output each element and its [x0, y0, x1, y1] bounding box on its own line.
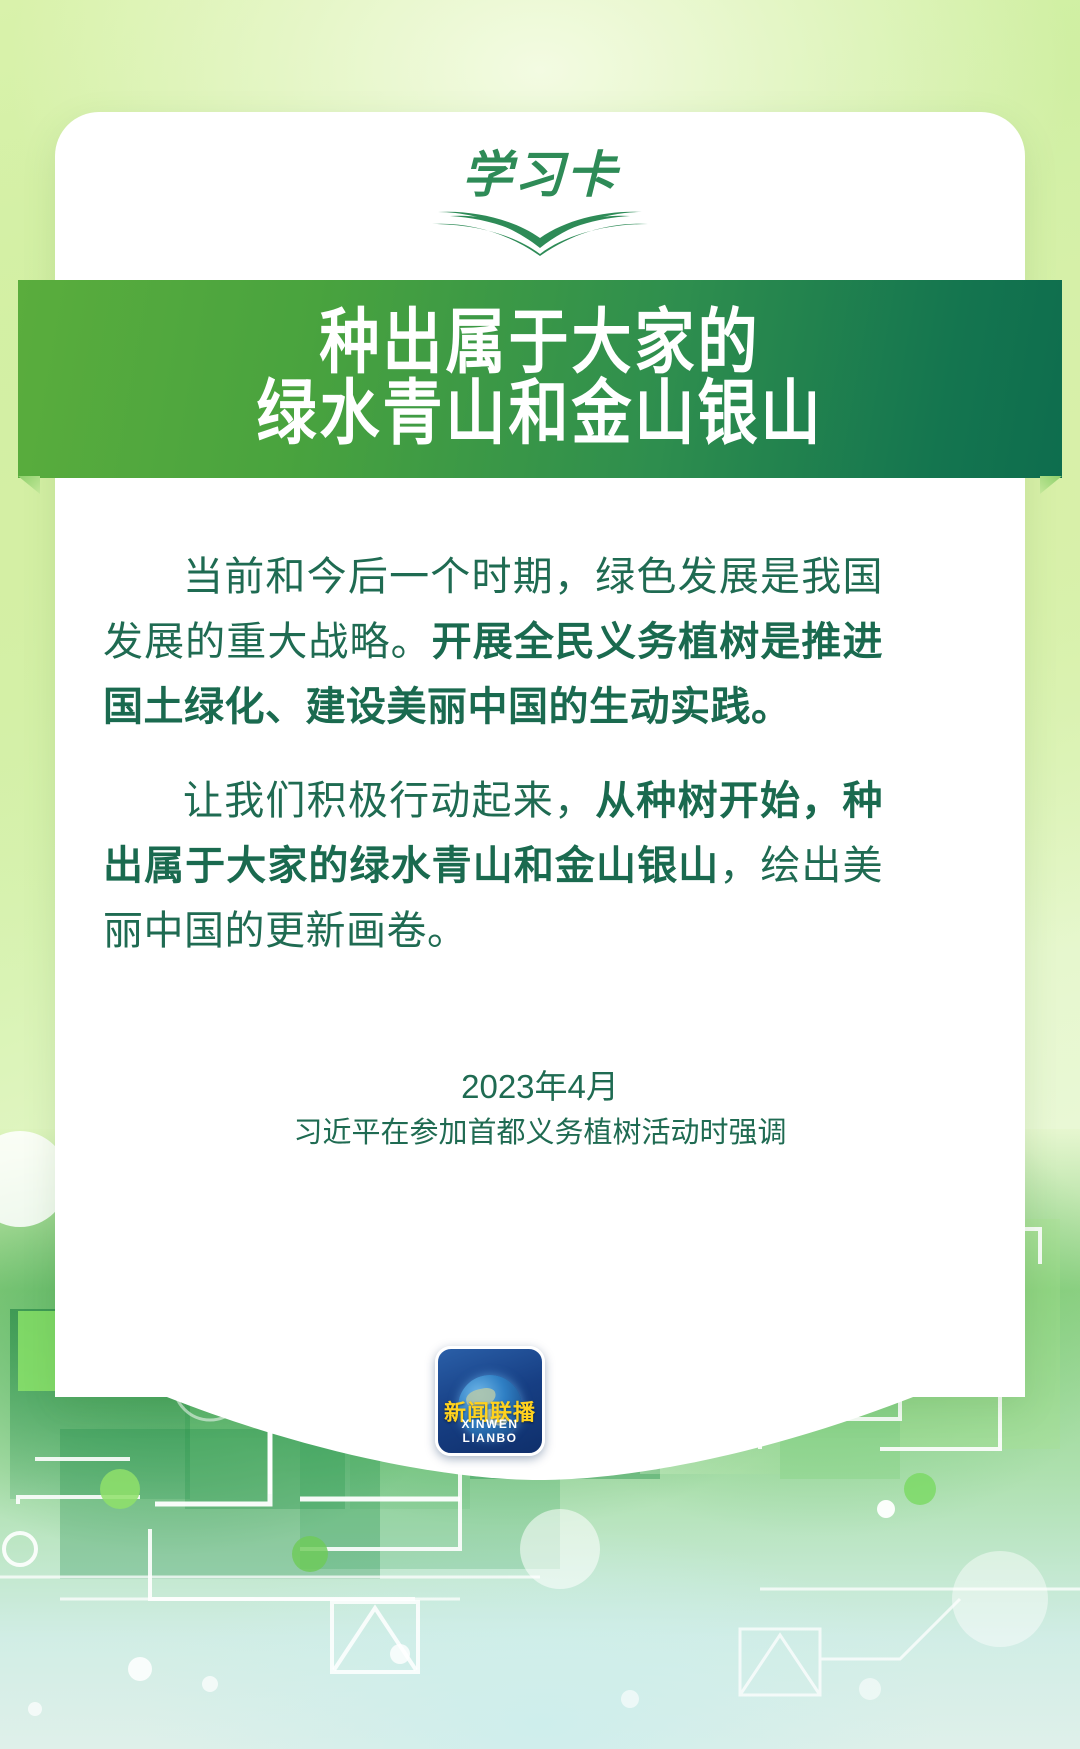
title-line-2: 绿水青山和金山银山 — [257, 376, 824, 452]
news-logo-pinyin: XINWEN LIANBO — [438, 1417, 542, 1445]
brand-logo-text: 学习卡 — [462, 147, 621, 203]
poster-root: 学习卡 种出属于大家的 绿水青山和金山银山 当前和今后一个时期，绿色发展是我国发… — [0, 0, 1080, 1749]
attribution-date: 2023年4月 — [0, 1062, 1080, 1112]
attribution-source: 习近平在参加首都义务植树活动时强调 — [0, 1112, 1080, 1156]
triangle-outline-icon — [330, 1600, 420, 1674]
title-line-1: 种出属于大家的 — [320, 305, 761, 381]
ribbon-fold-left-icon — [18, 476, 40, 494]
brand-logo: 学习卡 — [0, 138, 1080, 258]
paragraph-2: 让我们积极行动起来，从种树开始，种出属于大家的绿水青山和金山银山，绘出美丽中国的… — [103, 769, 883, 963]
news-program-logo[interactable]: 新闻联播 XINWEN LIANBO — [435, 1346, 545, 1456]
ribbon-fold-right-icon — [1040, 476, 1062, 494]
paragraph-1: 当前和今后一个时期，绿色发展是我国发展的重大战略。开展全民义务植树是推进国土绿化… — [103, 545, 883, 739]
paragraph-2-plain-1: 让我们积极行动起来， — [183, 779, 595, 823]
title-ribbon: 种出属于大家的 绿水青山和金山银山 — [18, 280, 1062, 478]
open-book-icon: 学习卡 — [410, 138, 670, 258]
attribution: 2023年4月 习近平在参加首都义务植树活动时强调 — [0, 1062, 1080, 1155]
body-text: 当前和今后一个时期，绿色发展是我国发展的重大战略。开展全民义务植树是推进国土绿化… — [103, 545, 883, 994]
